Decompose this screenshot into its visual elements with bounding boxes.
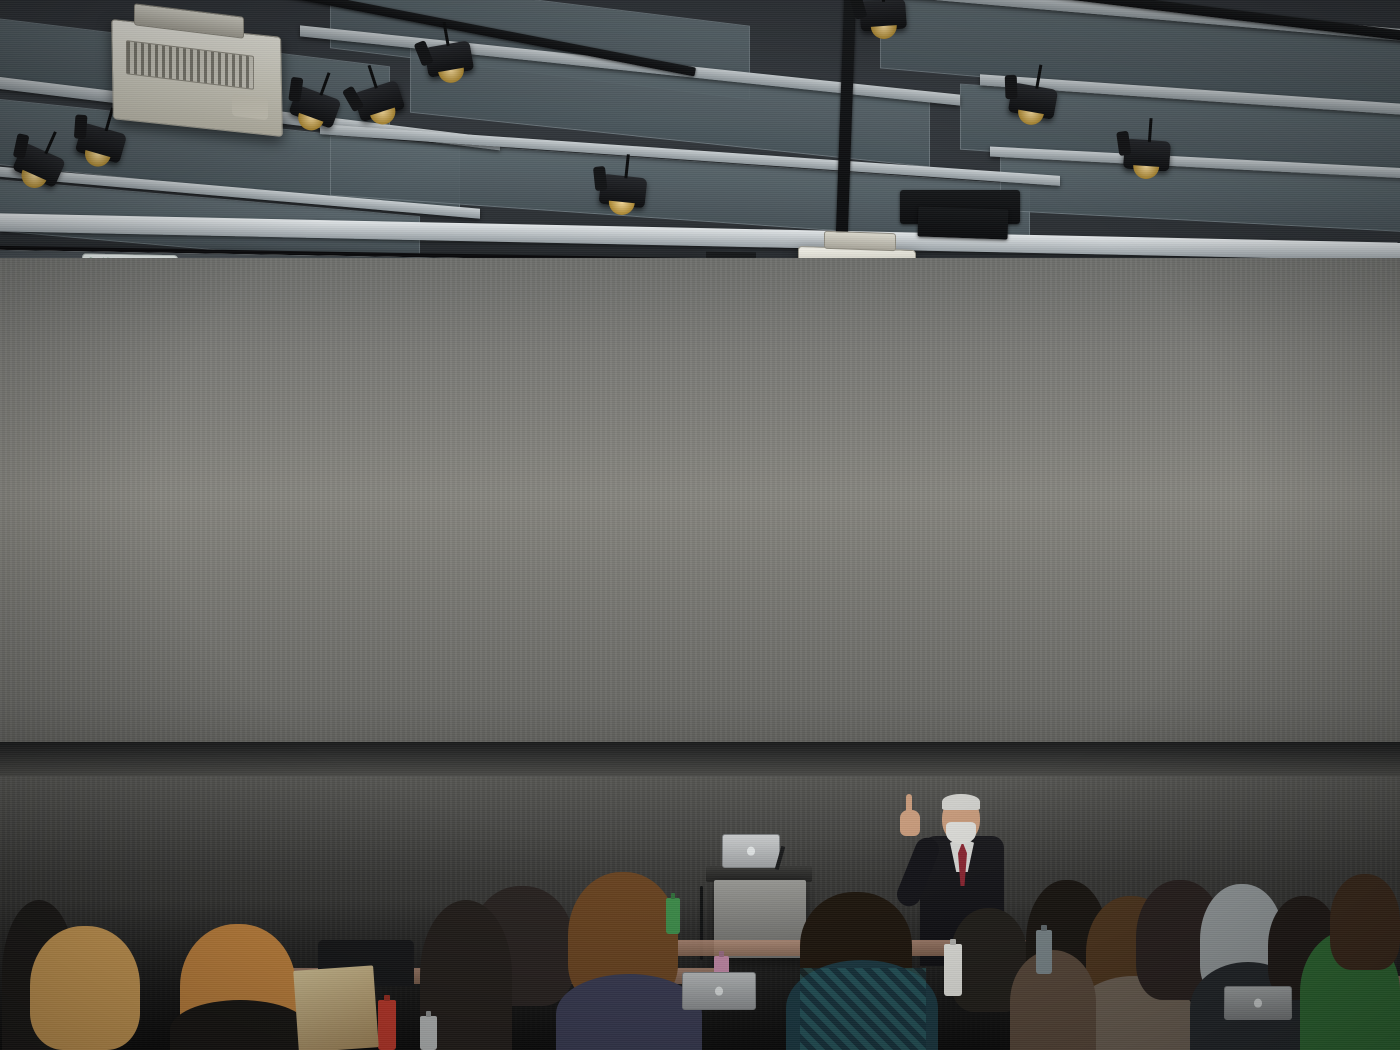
wall-shadow-band (0, 742, 1400, 776)
ceiling-mount-arm (918, 206, 1009, 239)
audience-member-sweater-pattern (800, 968, 926, 1050)
stage-light (1123, 138, 1171, 171)
water-bottle-red (378, 1000, 396, 1050)
presenter-pointing-finger (906, 794, 912, 814)
stage-light (599, 174, 648, 209)
audience-member (1330, 874, 1400, 970)
presenter-laptop[interactable] (722, 834, 780, 868)
presenter-hand (900, 810, 920, 836)
water-bottle-green (666, 898, 680, 934)
water-bottle-white (944, 944, 962, 996)
audience-member (30, 926, 140, 1050)
audience-member (556, 974, 702, 1050)
stage-light (859, 0, 907, 32)
water-bottle-teal (1036, 930, 1052, 974)
lecture-hall-scene: ▲ 100% Tue Sep 3 2:24 PM flood.firetree.… (0, 0, 1400, 1050)
notebook (293, 965, 379, 1050)
audience-laptop[interactable] (1224, 986, 1292, 1020)
audience-member (1010, 950, 1096, 1050)
presenter-beard (946, 822, 976, 844)
audience-laptop[interactable] (682, 972, 756, 1010)
presenter-hair (942, 794, 980, 810)
ceiling (0, 0, 1400, 258)
water-bottle-silver (420, 1016, 437, 1050)
